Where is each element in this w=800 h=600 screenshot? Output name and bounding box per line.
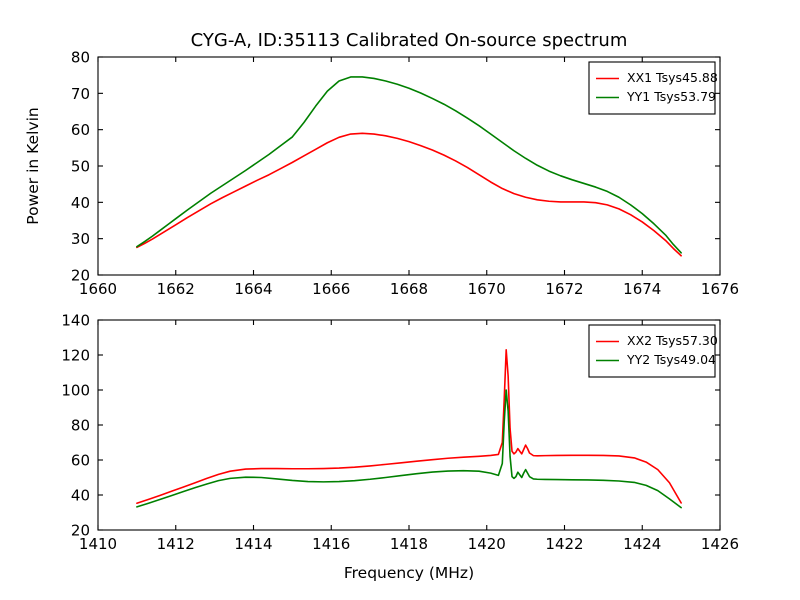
y-tick-label: 30: [71, 230, 90, 248]
series-line-yy2: [137, 390, 681, 508]
y-tick-label: 100: [61, 382, 90, 400]
panel-bottom: 1410141214141416141814201422142414262040…: [61, 312, 739, 583]
x-tick-label: 1676: [701, 280, 739, 298]
y-tick-label: 50: [71, 158, 90, 176]
y-tick-label: 20: [71, 267, 90, 285]
x-tick-label: 1668: [390, 280, 428, 298]
y-axis-label: Power in Kelvin: [24, 107, 42, 224]
legend-top: XX1 Tsys45.88YY1 Tsys53.79: [589, 62, 718, 114]
x-tick-label: 1672: [545, 280, 583, 298]
plot-canvas: CYG-A, ID:35113 Calibrated On-source spe…: [0, 0, 800, 600]
legend-label: YY1 Tsys53.79: [626, 89, 716, 104]
x-tick-label: 1420: [468, 535, 506, 553]
y-tick-label: 80: [71, 49, 90, 67]
legend-label: XX1 Tsys45.88: [627, 70, 718, 85]
figure-title: CYG-A, ID:35113 Calibrated On-source spe…: [191, 30, 628, 51]
x-tick-label: 1418: [390, 535, 428, 553]
x-axis-label: Frequency (MHz): [344, 564, 474, 582]
x-tick-label: 1662: [157, 280, 195, 298]
x-tick-label: 1422: [545, 535, 583, 553]
y-tick-label: 140: [61, 312, 90, 330]
x-tick-label: 1670: [468, 280, 506, 298]
x-tick-label: 1666: [312, 280, 350, 298]
x-tick-label: 1424: [623, 535, 661, 553]
y-tick-label: 120: [61, 347, 90, 365]
y-tick-label: 60: [71, 452, 90, 470]
legend-label: XX2 Tsys57.30: [627, 333, 718, 348]
x-tick-label: 1674: [623, 280, 661, 298]
y-tick-label: 40: [71, 487, 90, 505]
x-tick-label: 1416: [312, 535, 350, 553]
x-tick-label: 1412: [157, 535, 195, 553]
x-tick-label: 1426: [701, 535, 739, 553]
x-tick-label: 1414: [234, 535, 272, 553]
y-tick-label: 20: [71, 522, 90, 540]
y-tick-label: 40: [71, 194, 90, 212]
y-tick-label: 70: [71, 85, 90, 103]
legend-label: YY2 Tsys49.04: [626, 352, 716, 367]
legend-bottom: XX2 Tsys57.30YY2 Tsys49.04: [589, 325, 718, 377]
spectrum-figure: CYG-A, ID:35113 Calibrated On-source spe…: [0, 0, 800, 600]
series-line-xx1: [137, 133, 681, 255]
panel-top: 1660166216641666166816701672167416762030…: [24, 49, 739, 299]
y-tick-label: 80: [71, 417, 90, 435]
y-tick-label: 60: [71, 121, 90, 139]
x-tick-label: 1664: [234, 280, 272, 298]
